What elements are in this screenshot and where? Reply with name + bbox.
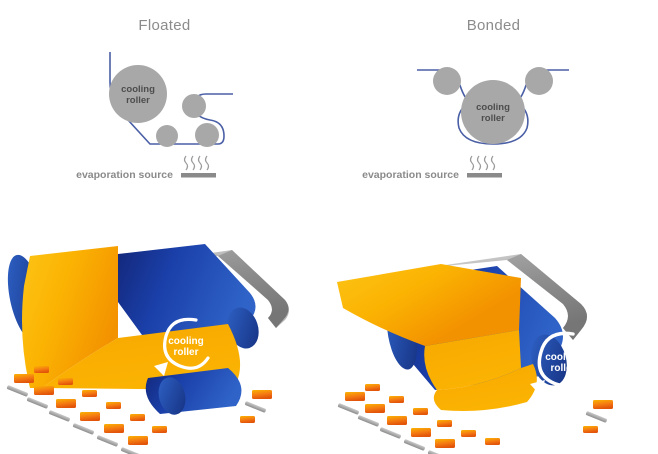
cooling-roller-3d-label-line2-floated: roller	[173, 347, 198, 358]
vapor-waves-bonded	[471, 156, 495, 170]
panel-bonded: Bonded cooling roller evaporation source	[329, 0, 658, 454]
panel-floated: Floated cooling roller evaporation sourc…	[0, 0, 329, 454]
cooling-roller-label-line1-floated: cooling	[121, 84, 155, 95]
cooling-roller-label-line1-bonded: cooling	[476, 102, 510, 113]
illustration-floated: cooling roller	[0, 238, 329, 454]
evaporation-source-label-floated: evaporation source	[76, 169, 173, 181]
illustration-bonded: cooling roller	[329, 238, 658, 454]
guide-roller-left-bonded	[433, 67, 461, 95]
vapor-waves-floated	[185, 156, 209, 170]
guide-roller-lower-mid-floated	[156, 125, 178, 147]
evaporation-source-bar-floated	[181, 173, 216, 178]
orange-sheet-bonded	[337, 264, 521, 346]
evaporation-source-label-bonded: evaporation source	[362, 169, 459, 181]
cooling-roller-3d-label-line2-bonded: roller	[550, 363, 575, 374]
panel-title-floated: Floated	[0, 17, 329, 34]
cooling-roller-3d-label-line1-floated: cooling	[168, 336, 204, 347]
cooling-roller-3d-label-line1-bonded: cooling	[545, 352, 581, 363]
guide-roller-upper-right-floated	[182, 94, 206, 118]
evaporation-source-bar-bonded	[467, 173, 502, 178]
panel-title-bonded: Bonded	[329, 17, 658, 34]
guide-roller-lower-right-floated	[195, 123, 219, 147]
schematic-floated: cooling roller evaporation source	[0, 44, 329, 194]
schematic-bonded: cooling roller evaporation source	[329, 44, 658, 194]
cooling-roller-label-line2-bonded: roller	[481, 113, 505, 124]
guide-roller-right-bonded	[525, 67, 553, 95]
cooling-roller-label-line2-floated: roller	[126, 95, 150, 106]
